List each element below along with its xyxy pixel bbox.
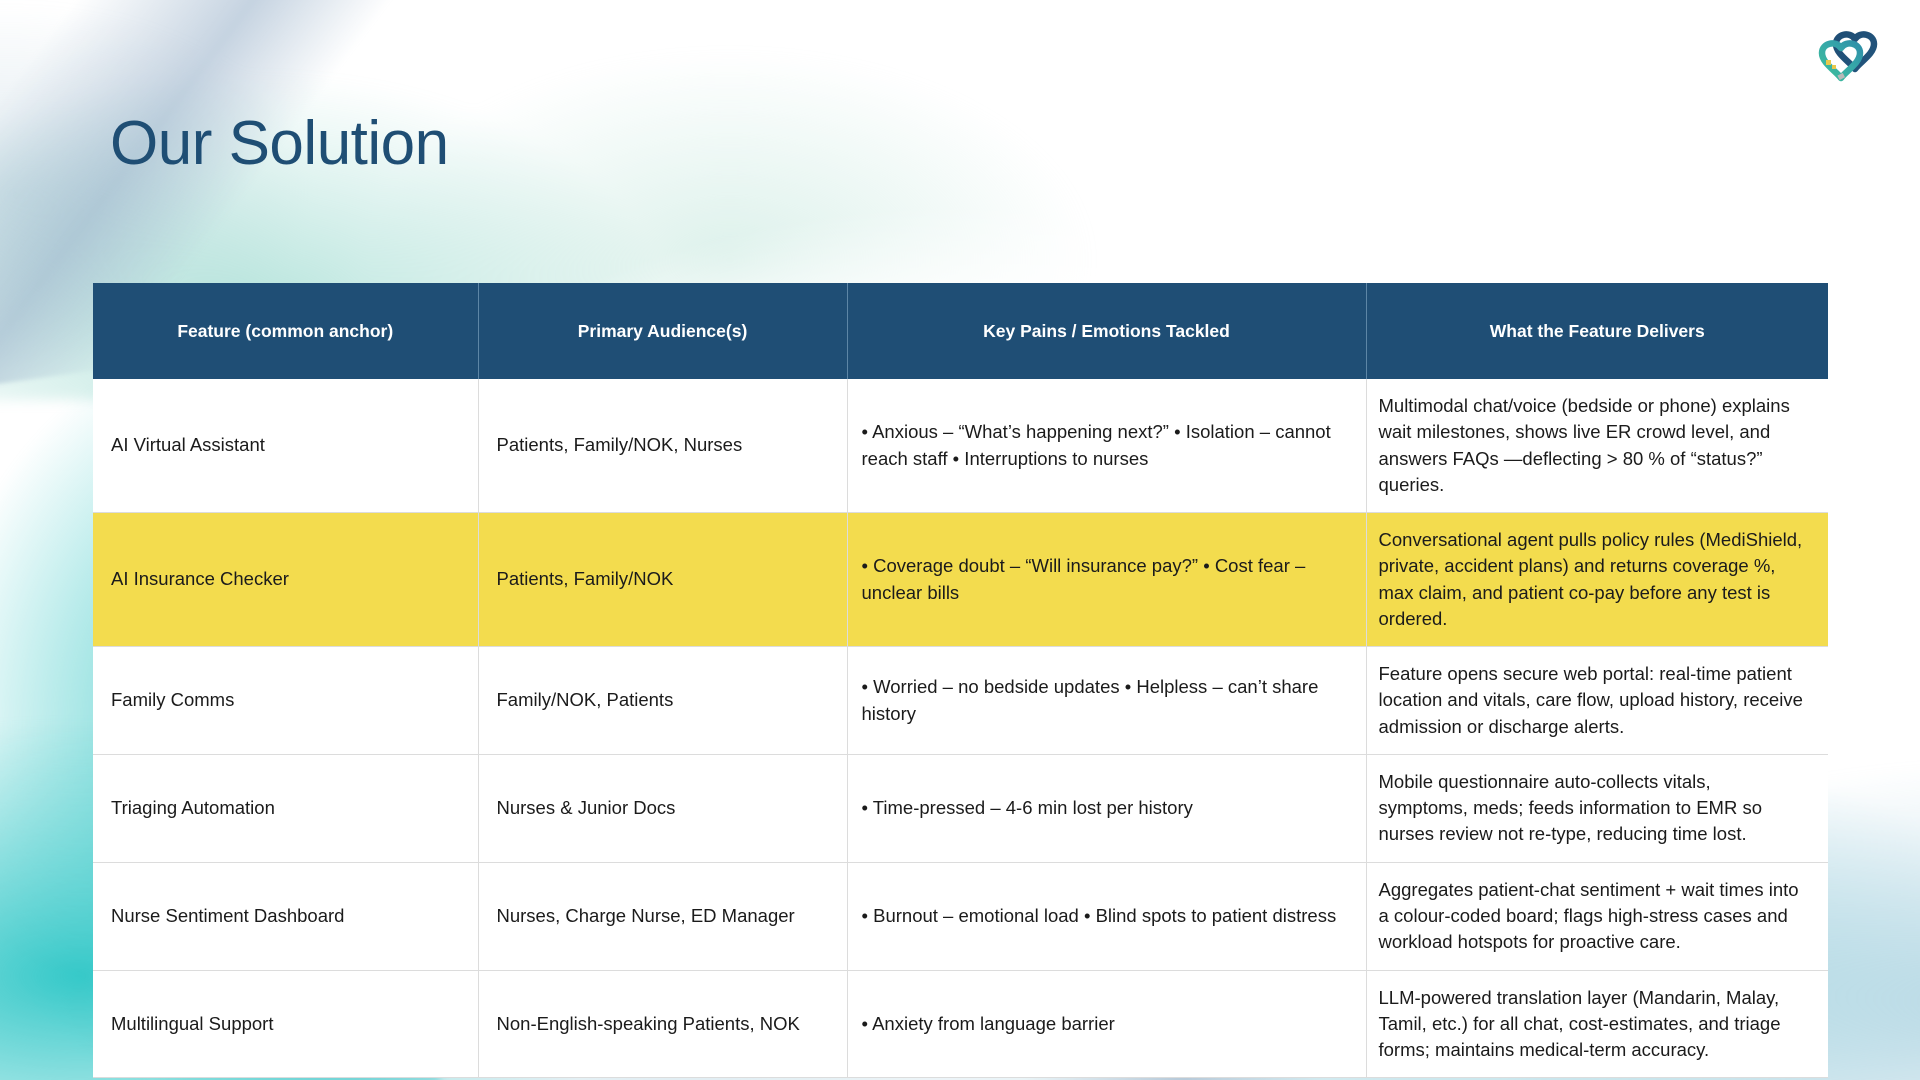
cell-delivers: Multimodal chat/voice (bedside or phone)… <box>1366 379 1828 513</box>
table-header: Feature (common anchor) Primary Audience… <box>93 283 1828 379</box>
table-row: Multilingual Support Non-English-speakin… <box>93 970 1828 1078</box>
cell-pains: • Burnout – emotional load • Blind spots… <box>847 862 1366 970</box>
cell-feature: Triaging Automation <box>93 754 478 862</box>
cell-pains: • Anxiety from language barrier <box>847 970 1366 1078</box>
cell-delivers: Conversational agent pulls policy rules … <box>1366 513 1828 647</box>
table-row: Triaging Automation Nurses & Junior Docs… <box>93 754 1828 862</box>
cell-pains: • Worried – no bedside updates • Helples… <box>847 647 1366 755</box>
table-row-highlighted: AI Insurance Checker Patients, Family/NO… <box>93 513 1828 647</box>
cell-delivers: Feature opens secure web portal: real-ti… <box>1366 647 1828 755</box>
cell-feature: Multilingual Support <box>93 970 478 1078</box>
column-header-delivers: What the Feature Delivers <box>1366 283 1828 379</box>
table-header-row: Feature (common anchor) Primary Audience… <box>93 283 1828 379</box>
cell-feature: AI Virtual Assistant <box>93 379 478 513</box>
cell-audience: Family/NOK, Patients <box>478 647 847 755</box>
table-body: AI Virtual Assistant Patients, Family/NO… <box>93 379 1828 1078</box>
cell-delivers: Mobile questionnaire auto-collects vital… <box>1366 754 1828 862</box>
column-header-audience: Primary Audience(s) <box>478 283 847 379</box>
slide-canvas: Our Solution Feature (common anchor) Pri… <box>0 0 1920 1080</box>
cell-pains: • Anxious – “What’s happening next?” • I… <box>847 379 1366 513</box>
solution-table: Feature (common anchor) Primary Audience… <box>93 283 1828 1078</box>
table-row: Nurse Sentiment Dashboard Nurses, Charge… <box>93 862 1828 970</box>
column-header-feature: Feature (common anchor) <box>93 283 478 379</box>
cell-audience: Nurses & Junior Docs <box>478 754 847 862</box>
cell-feature: Family Comms <box>93 647 478 755</box>
table-row: Family Comms Family/NOK, Patients • Worr… <box>93 647 1828 755</box>
page-title: Our Solution <box>110 108 449 179</box>
column-header-pains: Key Pains / Emotions Tackled <box>847 283 1366 379</box>
cell-audience: Non-English-speaking Patients, NOK <box>478 970 847 1078</box>
cell-feature: Nurse Sentiment Dashboard <box>93 862 478 970</box>
cell-audience: Patients, Family/NOK <box>478 513 847 647</box>
interlocking-hearts-logo <box>1816 22 1880 86</box>
cell-delivers: LLM-powered translation layer (Mandarin,… <box>1366 970 1828 1078</box>
table-row: AI Virtual Assistant Patients, Family/NO… <box>93 379 1828 513</box>
cell-pains: • Time-pressed – 4-6 min lost per histor… <box>847 754 1366 862</box>
cell-pains: • Coverage doubt – “Will insurance pay?”… <box>847 513 1366 647</box>
cell-feature: AI Insurance Checker <box>93 513 478 647</box>
solution-table-container: Feature (common anchor) Primary Audience… <box>93 283 1828 1078</box>
cell-audience: Nurses, Charge Nurse, ED Manager <box>478 862 847 970</box>
cell-audience: Patients, Family/NOK, Nurses <box>478 379 847 513</box>
cell-delivers: Aggregates patient-chat sentiment + wait… <box>1366 862 1828 970</box>
